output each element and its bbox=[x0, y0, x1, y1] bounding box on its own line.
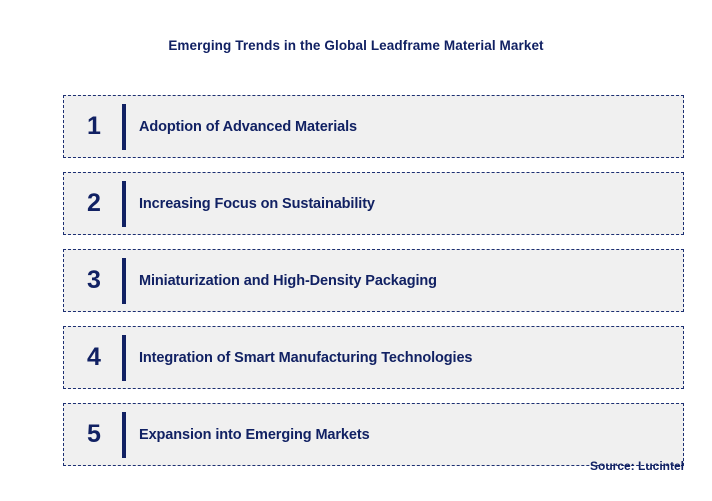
trend-number: 2 bbox=[64, 191, 122, 216]
page-title: Emerging Trends in the Global Leadframe … bbox=[0, 38, 712, 53]
list-item: 3 Miniaturization and High-Density Packa… bbox=[63, 249, 684, 312]
trend-number: 3 bbox=[64, 268, 122, 293]
trend-label: Adoption of Advanced Materials bbox=[126, 119, 683, 135]
trend-label: Integration of Smart Manufacturing Techn… bbox=[126, 350, 683, 366]
list-item: 4 Integration of Smart Manufacturing Tec… bbox=[63, 326, 684, 389]
trend-number: 4 bbox=[64, 345, 122, 370]
list-item: 1 Adoption of Advanced Materials bbox=[63, 95, 684, 158]
trend-number: 5 bbox=[64, 422, 122, 447]
source-attribution: Source: Lucintel bbox=[590, 459, 684, 473]
trend-label: Miniaturization and High-Density Packagi… bbox=[126, 273, 683, 289]
infographic-container: Emerging Trends in the Global Leadframe … bbox=[0, 0, 712, 501]
trend-label: Expansion into Emerging Markets bbox=[126, 427, 683, 443]
trend-list: 1 Adoption of Advanced Materials 2 Incre… bbox=[63, 95, 684, 466]
list-item: 2 Increasing Focus on Sustainability bbox=[63, 172, 684, 235]
trend-number: 1 bbox=[64, 114, 122, 139]
trend-label: Increasing Focus on Sustainability bbox=[126, 196, 683, 212]
list-item: 5 Expansion into Emerging Markets bbox=[63, 403, 684, 466]
